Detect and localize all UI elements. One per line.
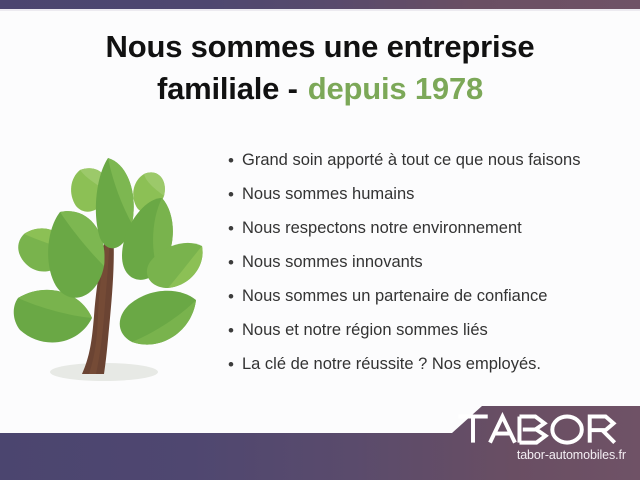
bullet-marker-icon: • <box>228 352 242 377</box>
tabor-wordmark-logo <box>456 412 626 446</box>
bullet-marker-icon: • <box>228 182 242 207</box>
family-tree-illustration <box>8 150 208 390</box>
headline-line-1: Nous sommes une entreprise <box>106 29 535 64</box>
list-item: • La clé de notre réussite ? Nos employé… <box>228 352 628 386</box>
leaf-left-outer-low <box>14 290 92 343</box>
footer-brand-bar: tabor-automobiles.fr <box>0 400 640 480</box>
list-item-label: Nous respectons notre environnement <box>242 216 522 241</box>
list-item-label: Nous sommes un partenaire de confiance <box>242 284 547 309</box>
slide-canvas: Nous sommes une entreprise familiale -de… <box>0 0 640 480</box>
leaf-right-low <box>120 291 196 345</box>
brand-tagline: tabor-automobiles.fr <box>456 448 626 463</box>
bullet-marker-icon: • <box>228 284 242 309</box>
bullet-marker-icon: • <box>228 318 242 343</box>
list-item: • Nous sommes humains <box>228 182 628 216</box>
bullet-marker-icon: • <box>228 216 242 241</box>
bullet-marker-icon: • <box>228 148 242 173</box>
brand-lockup: tabor-automobiles.fr <box>456 412 626 463</box>
list-item-label: Grand soin apporté à tout ce que nous fa… <box>242 148 580 173</box>
list-item-label: Nous sommes innovants <box>242 250 423 275</box>
top-accent-hairline <box>0 9 640 11</box>
list-item-label: Nous sommes humains <box>242 182 414 207</box>
value-proposition-list: • Grand soin apporté à tout ce que nous … <box>228 148 628 386</box>
leaf-left-mid <box>48 211 104 298</box>
bullet-marker-icon: • <box>228 250 242 275</box>
headline-line-2-accent: depuis 1978 <box>308 71 483 106</box>
page-title: Nous sommes une entreprise familiale -de… <box>0 26 640 110</box>
list-item: • Grand soin apporté à tout ce que nous … <box>228 148 628 182</box>
headline-line-2-primary: familiale - <box>157 71 298 106</box>
list-item-label: La clé de notre réussite ? Nos employés. <box>242 352 541 377</box>
list-item: • Nous respectons notre environnement <box>228 216 628 250</box>
list-item: • Nous sommes innovants <box>228 250 628 284</box>
top-accent-bar <box>0 0 640 9</box>
list-item: • Nous et notre région sommes liés <box>228 318 628 352</box>
list-item: • Nous sommes un partenaire de confiance <box>228 284 628 318</box>
list-item-label: Nous et notre région sommes liés <box>242 318 488 343</box>
